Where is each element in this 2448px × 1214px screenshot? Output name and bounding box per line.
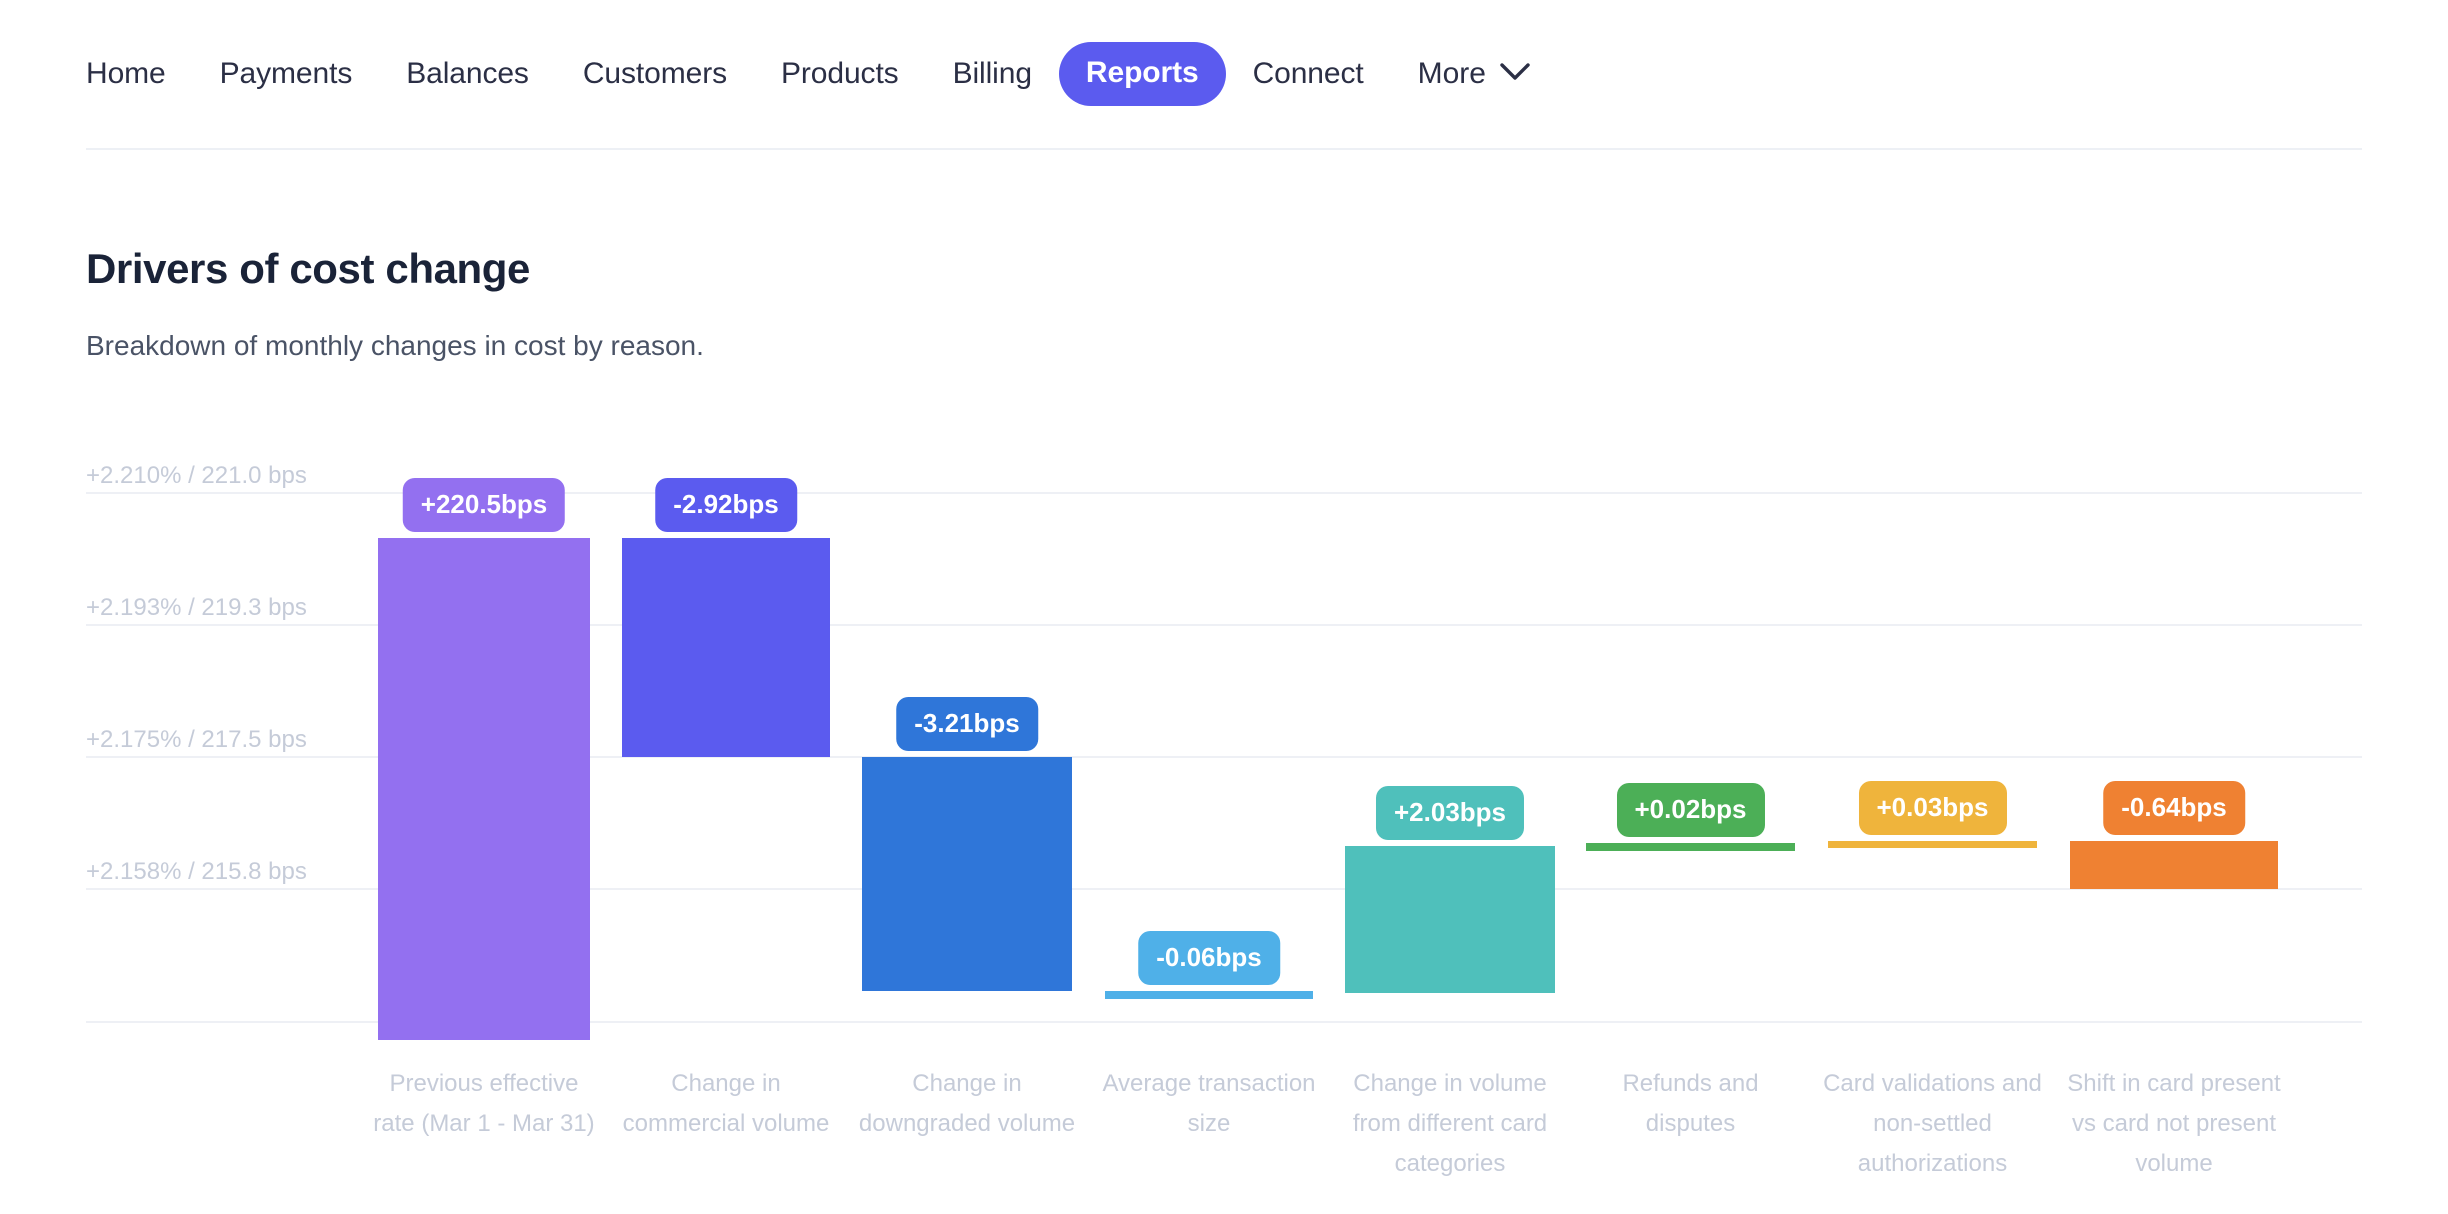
bar-value-label: +0.03bps	[1858, 781, 2006, 835]
bar-rect[interactable]	[1345, 846, 1555, 993]
bar-rect[interactable]	[2070, 841, 2278, 889]
x-axis-category-label: Refunds and disputes	[1576, 1064, 1805, 1144]
plot-area: +220.5bps Previous effective rate (Mar 1…	[340, 460, 2350, 1040]
bar-column[interactable]: +0.03bps Card validations and non-settle…	[1828, 460, 2037, 1040]
x-axis-category-label: Change in commercial volume	[612, 1064, 840, 1144]
bar-rect[interactable]	[1105, 991, 1313, 999]
bar-column[interactable]: +220.5bps Previous effective rate (Mar 1…	[378, 460, 590, 1040]
bar-column[interactable]: +2.03bps Change in volume from different…	[1345, 460, 1555, 1040]
bar-column[interactable]: -0.64bps Shift in card present vs card n…	[2070, 460, 2278, 1040]
bar-column[interactable]: -3.21bps Change in downgraded volume	[862, 460, 1072, 1040]
bar-rect[interactable]	[378, 538, 590, 1040]
bar-value-label: -0.64bps	[2103, 781, 2245, 835]
bar-value-label: -2.92bps	[655, 478, 797, 532]
x-axis-category-label: Average transaction size	[1095, 1064, 1323, 1144]
x-axis-category-label: Card validations and non-settled authori…	[1818, 1064, 2047, 1184]
waterfall-chart: +2.210% / 221.0 bps +2.193% / 219.3 bps …	[0, 0, 2448, 1214]
bar-value-label: +0.02bps	[1616, 783, 1764, 837]
y-axis-tick-label: +2.210% / 221.0 bps	[86, 462, 307, 490]
y-axis-tick-label: +2.158% / 215.8 bps	[86, 858, 307, 886]
report-page: Home Payments Balances Customers Product…	[0, 0, 2448, 1214]
bar-value-label: +220.5bps	[403, 478, 565, 532]
bar-value-label: +2.03bps	[1376, 786, 1524, 840]
bar-column[interactable]: -2.92bps Change in commercial volume	[622, 460, 830, 1040]
bar-rect[interactable]	[1828, 841, 2037, 848]
y-axis-tick-label: +2.175% / 217.5 bps	[86, 726, 307, 754]
bar-rect[interactable]	[622, 538, 830, 757]
x-axis-category-label: Change in downgraded volume	[852, 1064, 1082, 1144]
x-axis-category-label: Previous effective rate (Mar 1 - Mar 31)	[368, 1064, 600, 1144]
bar-column[interactable]: +0.02bps Refunds and disputes	[1586, 460, 1795, 1040]
bar-rect[interactable]	[862, 757, 1072, 991]
bar-rect[interactable]	[1586, 843, 1795, 851]
bar-column[interactable]: -0.06bps Average transaction size	[1105, 460, 1313, 1040]
bar-value-label: -3.21bps	[896, 697, 1038, 751]
y-axis-tick-label: +2.193% / 219.3 bps	[86, 594, 307, 622]
x-axis-category-label: Shift in card present vs card not presen…	[2060, 1064, 2288, 1184]
x-axis-category-label: Change in volume from different card cat…	[1335, 1064, 1565, 1184]
bar-value-label: -0.06bps	[1138, 931, 1280, 985]
